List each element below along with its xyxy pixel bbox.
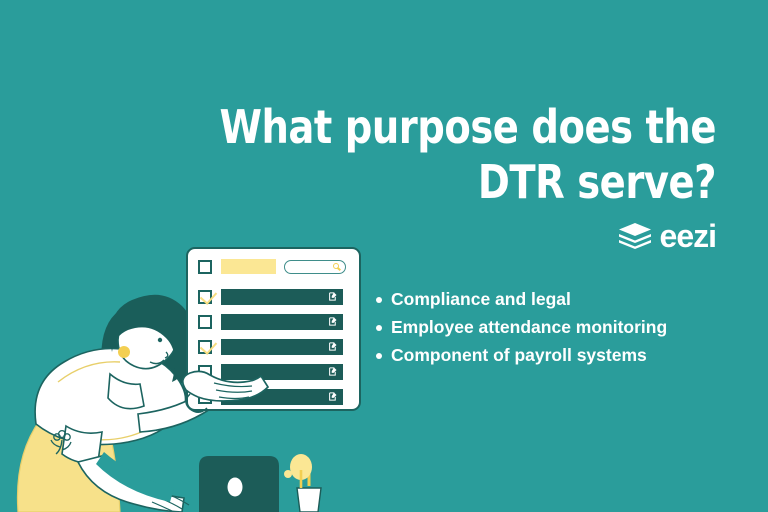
edit-document-icon[interactable] <box>329 392 337 401</box>
row-checkbox[interactable] <box>198 365 212 379</box>
brand-name: eezi <box>660 220 716 252</box>
row-content-bar <box>221 364 343 380</box>
bullet-dot-icon <box>376 297 382 303</box>
checklist-row[interactable] <box>198 314 343 330</box>
checklist-row[interactable] <box>198 389 343 405</box>
row-checkbox[interactable] <box>198 390 212 404</box>
row-content-bar <box>221 289 343 305</box>
row-content-bar <box>221 314 343 330</box>
brand-logo[interactable]: eezi <box>618 220 716 252</box>
magnifier-icon <box>333 263 339 269</box>
bullet-list: Compliance and legal Employee attendance… <box>376 288 726 372</box>
row-checkbox[interactable] <box>198 290 212 304</box>
title-line-2: DTR serve? <box>195 155 716 210</box>
edit-document-icon[interactable] <box>329 367 337 376</box>
header-title-bar <box>221 259 276 274</box>
row-content-bar <box>221 339 343 355</box>
slide-canvas: What purpose does the DTR serve? eezi Co… <box>0 0 768 512</box>
title-line-1: What purpose does the <box>195 100 716 155</box>
checklist-row[interactable] <box>198 364 343 380</box>
checklist-header-row <box>198 259 346 274</box>
bullet-dot-icon <box>376 353 382 359</box>
list-item: Component of payroll systems <box>376 344 726 367</box>
list-item: Employee attendance monitoring <box>376 316 726 339</box>
search-input[interactable] <box>284 260 346 274</box>
checklist-card <box>186 247 361 411</box>
list-item-label: Compliance and legal <box>391 288 571 311</box>
earring <box>118 346 130 358</box>
header-checkbox[interactable] <box>198 260 212 274</box>
checklist-row[interactable] <box>198 339 343 355</box>
checklist-row[interactable] <box>198 289 343 305</box>
stacked-layers-icon <box>618 221 652 251</box>
list-item-label: Employee attendance monitoring <box>391 316 667 339</box>
illustration-woman-checklist <box>0 0 768 512</box>
potted-plant-icon <box>284 454 321 512</box>
row-checkbox[interactable] <box>198 315 212 329</box>
bullet-dot-icon <box>376 325 382 331</box>
laptop-icon <box>199 456 279 512</box>
list-item: Compliance and legal <box>376 288 726 311</box>
edit-document-icon[interactable] <box>329 317 337 326</box>
row-checkbox[interactable] <box>198 340 212 354</box>
page-title: What purpose does the DTR serve? <box>195 100 716 210</box>
edit-document-icon[interactable] <box>329 292 337 301</box>
list-item-label: Component of payroll systems <box>391 344 647 367</box>
edit-document-icon[interactable] <box>329 342 337 351</box>
row-content-bar <box>221 389 343 405</box>
